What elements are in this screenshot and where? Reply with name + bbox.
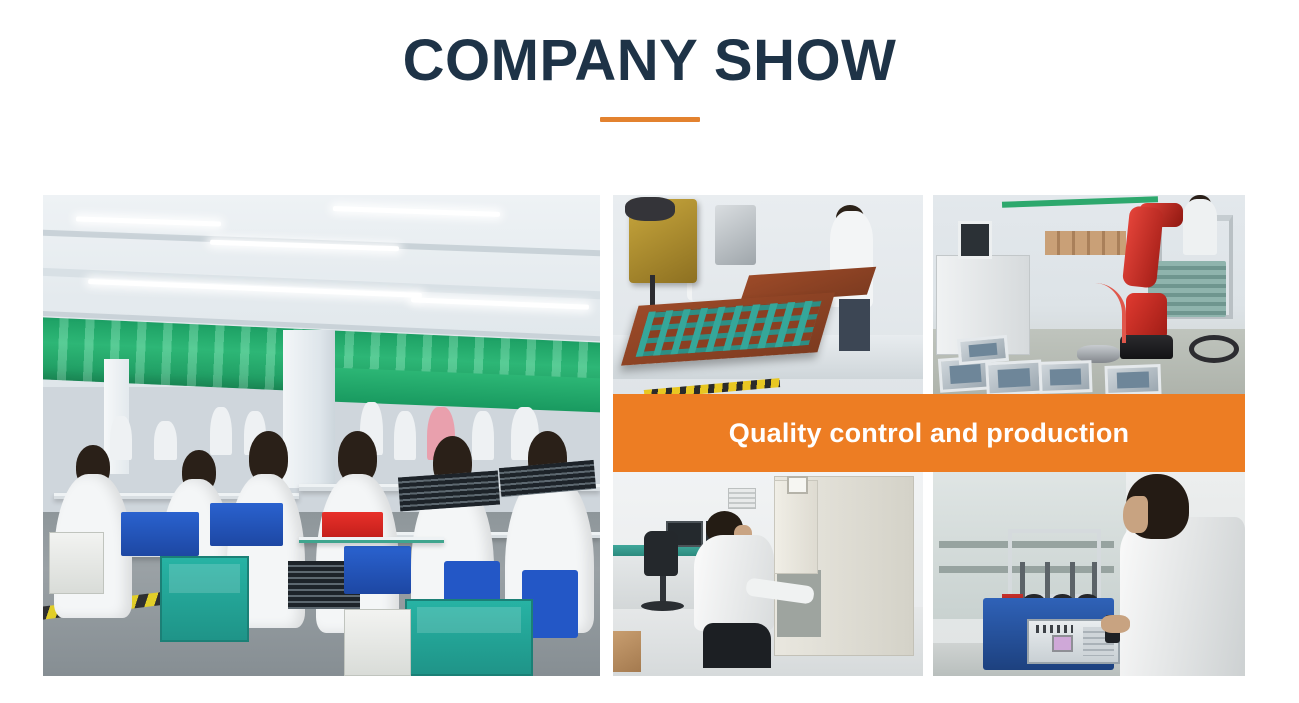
background-worker (210, 407, 232, 455)
header: COMPANY SHOW (0, 30, 1299, 122)
photo-factory-assembly-line (43, 195, 600, 676)
metal-panel-frame (1104, 364, 1161, 395)
company-show-page: COMPANY SHOW (0, 0, 1299, 703)
caption-banner: Quality control and production (613, 394, 1245, 472)
cardboard-boxes (1045, 231, 1126, 255)
blue-storage-bin (121, 512, 199, 555)
robot-body (1126, 293, 1167, 341)
page-title: COMPANY SHOW (0, 30, 1299, 92)
caption-banner-text: Quality control and production (729, 418, 1130, 449)
cardboard-box (613, 631, 641, 672)
test-probe (1070, 562, 1075, 599)
office-chair-base (641, 601, 684, 611)
test-probe (1045, 562, 1050, 599)
cable-coil (1189, 335, 1239, 363)
cabinet-gauge (787, 476, 809, 494)
background-worker (394, 411, 416, 459)
monitor (958, 221, 992, 259)
office-chair-back (644, 531, 678, 576)
photo-technician-equipment-cabinet (613, 472, 923, 676)
technician-body (1120, 517, 1245, 676)
background-worker (154, 421, 176, 459)
photo-gallery: Quality control and production (43, 195, 1245, 676)
metal-panel-frame (1039, 360, 1093, 394)
wall-vent (728, 488, 756, 508)
structural-pillar (283, 330, 336, 489)
factory-assembly-scene (43, 195, 600, 676)
title-underline-accent (600, 117, 700, 122)
robot-arm-scene (933, 195, 1245, 395)
machine-digital-readout (1036, 625, 1073, 633)
background-worker (472, 411, 494, 459)
white-carton (344, 609, 411, 676)
teal-plastic-crate (160, 556, 249, 643)
green-shelf (299, 537, 444, 543)
operator-legs (839, 299, 870, 351)
stacked-panels (398, 471, 500, 512)
blue-storage-bin (344, 546, 411, 594)
worker (1183, 199, 1217, 255)
photo-red-robot-arm (933, 195, 1245, 395)
secondary-dispense-head (715, 205, 755, 265)
technician-hand (1101, 615, 1129, 633)
solder-head-top (625, 197, 675, 221)
blue-storage-bin (210, 503, 282, 546)
metal-panel-frame (957, 335, 1009, 365)
white-carton (49, 532, 105, 595)
technician-cabinet-scene (613, 472, 923, 676)
cabinet-interior (777, 570, 820, 637)
test-probe (1092, 562, 1097, 599)
photo-pcb-soldering-machine (613, 195, 923, 395)
photo-technician-blue-tester (933, 472, 1245, 676)
stacked-panels (499, 460, 596, 497)
teal-plastic-crate (405, 599, 533, 676)
technician-tester-scene (933, 472, 1245, 676)
background-worker (110, 416, 132, 459)
technician-face (1123, 496, 1148, 533)
technician-legs (703, 623, 771, 668)
metal-panel-frame (985, 360, 1043, 395)
robot-base (1120, 335, 1173, 359)
machine-display (1052, 635, 1074, 651)
test-probe (1020, 562, 1025, 599)
pcb-machine-scene (613, 195, 923, 395)
